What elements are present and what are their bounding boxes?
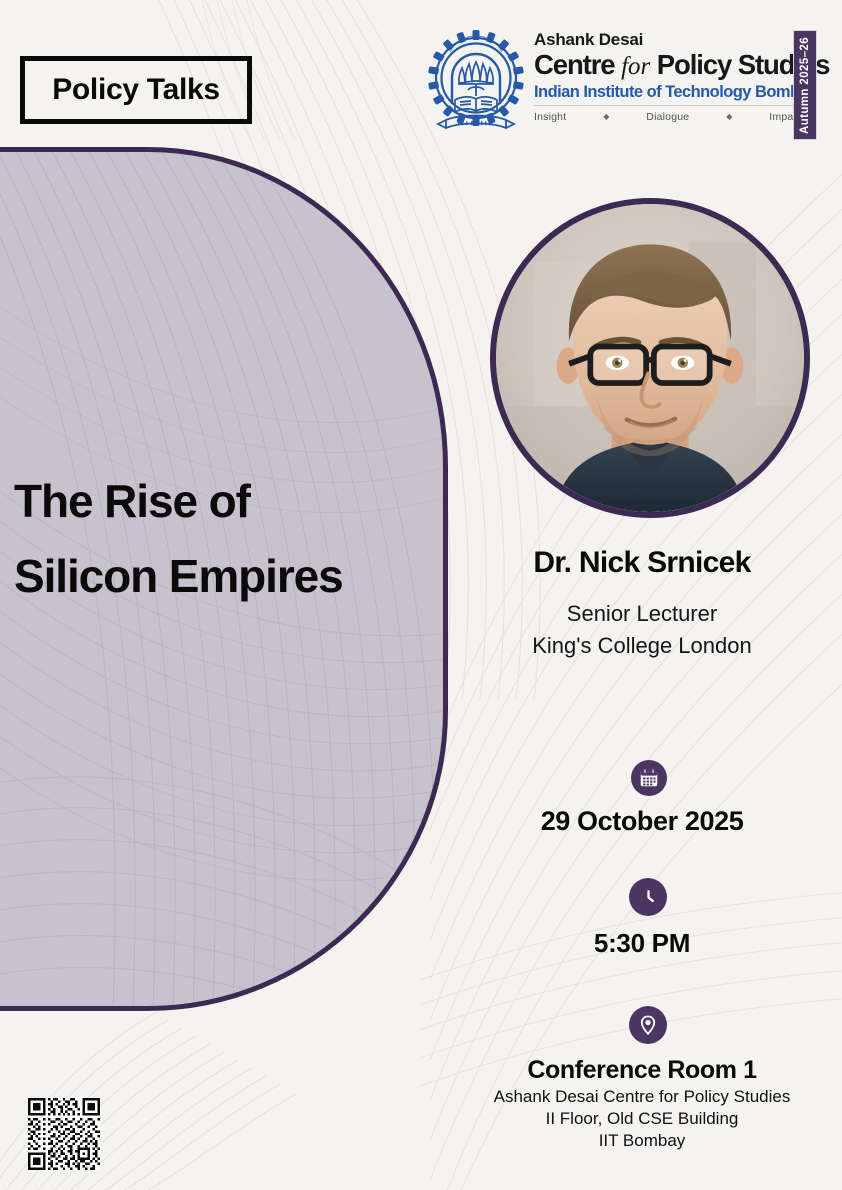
location-pin-glyph-icon [637, 1014, 659, 1036]
talk-title: The Rise of Silicon Empires [14, 464, 434, 613]
venue-address: Ashank Desai Centre for Policy Studies I… [432, 1086, 842, 1151]
venue-address-line-1: Ashank Desai Centre for Policy Studies [432, 1086, 842, 1108]
clock-icon [629, 878, 667, 916]
logo-line-institute: Indian Institute of Technology Bombay [534, 83, 802, 101]
logo-line-ashank-desai: Ashank Desai [534, 31, 802, 49]
centre-logo-lockup: Ashank Desai Centre for Policy Studies I… [424, 28, 820, 140]
term-tab: Autumn 2025–26 [793, 30, 817, 140]
logo-tagline: Insight ◆ Dialogue ◆ Impact [534, 111, 802, 123]
logo-text-block: Ashank Desai Centre for Policy Studies I… [534, 28, 802, 123]
venue-address-line-3: IIT Bombay [432, 1130, 842, 1152]
calendar-icon [631, 760, 667, 796]
policy-talks-label: Policy Talks [52, 75, 220, 105]
logo-for-word: for [621, 53, 650, 80]
speaker-portrait-image [496, 204, 804, 512]
speaker-role-line: Senior Lecturer [442, 598, 842, 630]
speaker-portrait [490, 198, 810, 518]
term-tab-label: Autumn 2025–26 [799, 37, 811, 134]
clock-glyph-icon [637, 886, 660, 909]
speaker-name: Dr. Nick Srnicek [442, 546, 842, 579]
event-time: 5:30 PM [442, 928, 842, 959]
diamond-separator-icon: ◆ [603, 112, 609, 121]
logo-divider [534, 105, 802, 106]
tagline-dialogue: Dialogue [646, 111, 689, 123]
venue-address-line-2: II Floor, Old CSE Building [432, 1108, 842, 1130]
tagline-insight: Insight [534, 111, 566, 123]
speaker-affiliation: Senior Lecturer King's College London [442, 598, 842, 662]
event-date: 29 October 2025 [442, 806, 842, 837]
poster-canvas: Policy Talks [0, 0, 842, 1190]
talk-title-line-2: Silicon Empires [14, 539, 434, 614]
qr-code[interactable] [28, 1098, 100, 1170]
logo-centre-word: Centre [534, 49, 615, 80]
talk-title-line-1: The Rise of [14, 464, 434, 539]
policy-talks-badge: Policy Talks [20, 56, 252, 124]
logo-line-centre-for-policy-studies: Centre for Policy Studies [534, 50, 802, 81]
calendar-glyph-icon [638, 767, 660, 789]
location-pin-icon [629, 1006, 667, 1044]
speaker-institution-line: King's College London [442, 630, 842, 662]
venue-room: Conference Room 1 [442, 1056, 842, 1085]
iitb-emblem-icon [424, 28, 528, 138]
diamond-separator-icon: ◆ [726, 112, 732, 121]
